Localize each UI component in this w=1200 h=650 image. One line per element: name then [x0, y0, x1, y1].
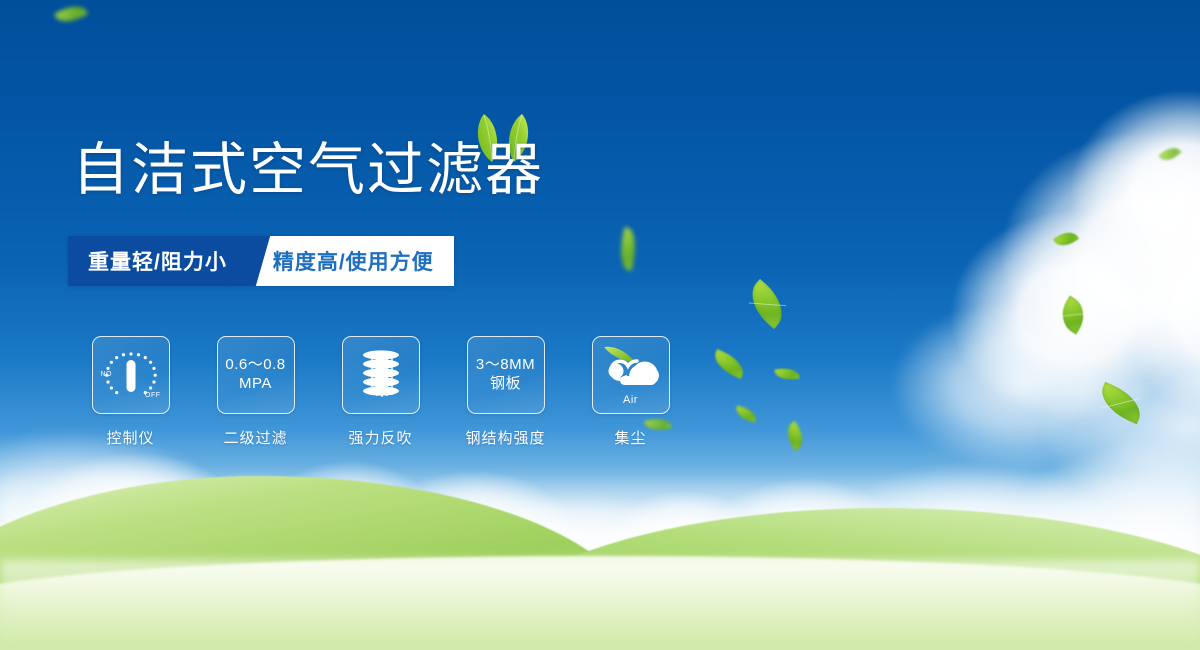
steel-plate-text-icon: 3～8MM 钢板: [476, 356, 535, 394]
floating-leaf: [710, 349, 748, 379]
feature-label: 集尘: [614, 427, 646, 448]
cloud-decoration: [20, 452, 250, 602]
feature-label: 控制仪: [106, 427, 154, 448]
feature-item-controller[interactable]: NO OFF 控制仪: [68, 336, 193, 448]
floating-leaf: [1095, 382, 1148, 424]
field-glow: [0, 560, 1200, 650]
floating-leaf: [734, 405, 758, 423]
feature-item-steel-strength[interactable]: 3～8MM 钢板 钢结构强度: [443, 336, 568, 448]
air-label: Air: [593, 394, 669, 406]
gauge-label-off: OFF: [145, 392, 161, 399]
feature-icon-box: NO OFF: [92, 336, 170, 414]
cloud-decoration: [1120, 200, 1200, 420]
cloud-decoration: [1000, 130, 1200, 380]
feature-icon-box: 0.6～0.8 MPA: [217, 336, 295, 414]
cloud-decoration: [890, 300, 1150, 470]
cloud-air-icon: [596, 343, 666, 401]
cloud-decoration: [370, 470, 580, 615]
floating-leaf: [1054, 295, 1092, 334]
cloud-decoration: [700, 478, 910, 623]
steel-line-1: 3～8MM: [476, 356, 535, 375]
feature-label: 二级过滤: [223, 427, 287, 448]
cloud-decoration: [1010, 440, 1200, 620]
feature-item-two-stage-filter[interactable]: 0.6～0.8 MPA 二级过滤: [193, 336, 318, 448]
subtitle-right: 精度高/使用方便: [249, 236, 454, 286]
subtitle-bar: 重量轻/阻力小 精度高/使用方便: [68, 236, 454, 286]
subtitle-left: 重量轻/阻力小: [68, 236, 249, 286]
feature-icon-box: [342, 336, 420, 414]
feature-label: 钢结构强度: [465, 427, 545, 448]
cloud-decoration: [255, 460, 445, 610]
floating-leaf: [774, 367, 799, 381]
floating-leaf: [54, 0, 88, 28]
floating-leaf: [1053, 227, 1079, 251]
pressure-text-icon: 0.6～0.8 MPA: [225, 356, 285, 394]
cloud-decoration: [1040, 330, 1200, 520]
grass-field: [0, 0, 1200, 650]
feature-icon-box: Air: [592, 336, 670, 414]
floating-leaf: [616, 227, 640, 271]
cloud-decoration: [820, 462, 1120, 632]
product-hero-banner: 自洁式空气过滤器 重量轻/阻力小 精度高/使用方便: [0, 0, 1200, 650]
horizon-haze: [0, 470, 1200, 565]
gauge-label-no: NO: [101, 371, 113, 378]
feature-label: 强力反吹: [348, 427, 412, 448]
hill-right: [470, 508, 1200, 650]
floating-leaf: [781, 421, 808, 452]
cloud-decoration: [1070, 90, 1200, 290]
cloud-decoration: [0, 430, 230, 600]
page-title: 自洁式空气过滤器: [72, 142, 544, 199]
floating-leaf: [1158, 143, 1181, 165]
cloud-decoration: [600, 490, 770, 620]
floating-leaf: [741, 279, 792, 329]
cloud-decoration: [950, 210, 1200, 420]
filter-cartridge-icon: [354, 347, 408, 403]
pressure-line-1: 0.6～0.8: [225, 356, 285, 375]
foreground-field: [0, 556, 1200, 650]
hill-left: [0, 476, 640, 650]
cloud-decoration: [460, 492, 690, 622]
cloud-decoration: [150, 472, 350, 607]
steel-line-2: 钢板: [476, 375, 535, 394]
feature-item-strong-backblow[interactable]: 强力反吹: [318, 336, 443, 448]
pressure-line-2: MPA: [225, 375, 285, 394]
feature-item-dust-collection[interactable]: Air 集尘: [568, 336, 693, 448]
feature-list: NO OFF 控制仪 0.6～0.8 MPA 二级过滤: [68, 336, 693, 448]
feature-icon-box: 3～8MM 钢板: [467, 336, 545, 414]
